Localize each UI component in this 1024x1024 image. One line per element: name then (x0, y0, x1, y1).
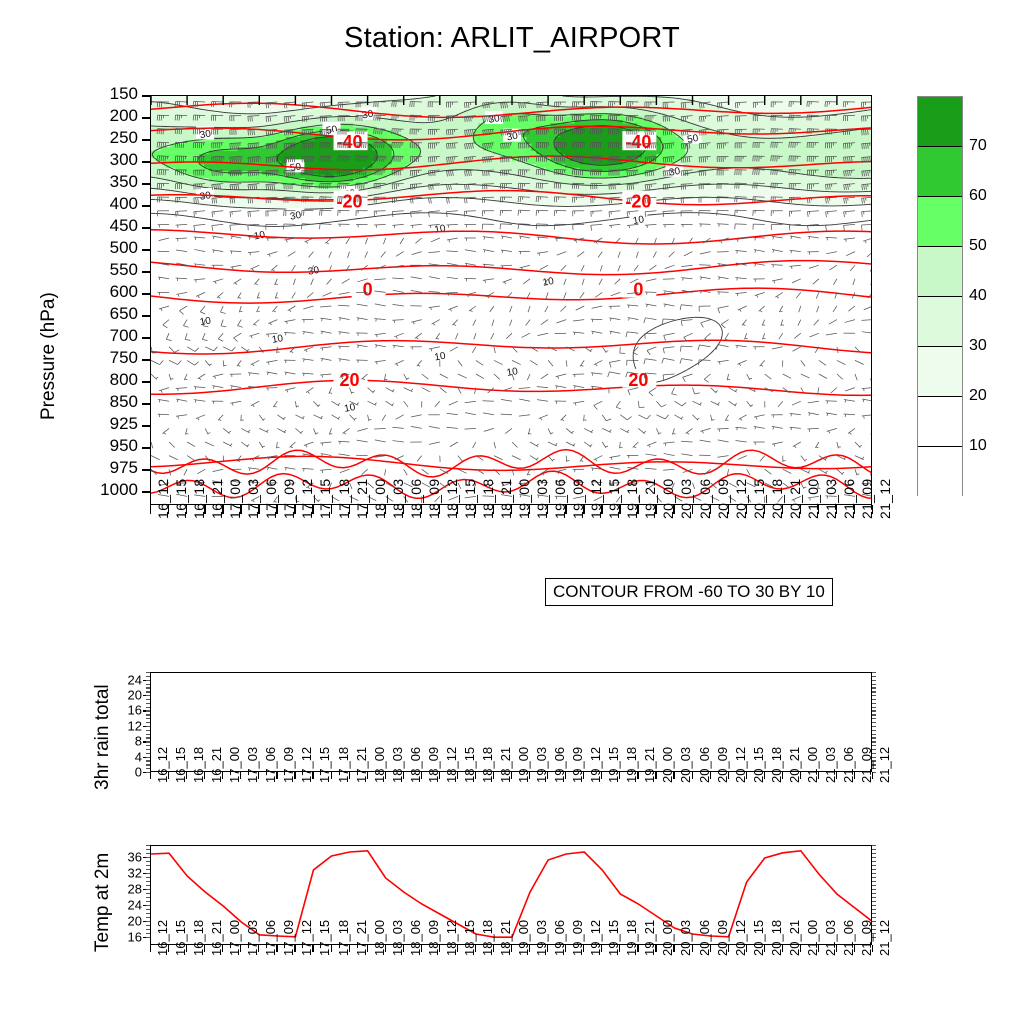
rain-time-tick (367, 772, 368, 779)
temp-minor-tick (872, 869, 876, 870)
pressure-tick-label: 400 (78, 195, 138, 212)
rain-time-tick (276, 772, 277, 779)
rain-minor-tick (872, 687, 876, 688)
xsec-plot-svg: 3030505050303030503030101010301010101010… (151, 96, 872, 505)
time-tick-mark (421, 505, 422, 514)
pressure-tick-label: 800 (78, 371, 138, 388)
temp-time-tick (854, 945, 855, 952)
time-tick-mark (240, 505, 241, 514)
rain-tick-label: 12 (96, 718, 142, 733)
rain-minor-tick (872, 730, 876, 731)
rain-minor-tick (146, 737, 150, 738)
temp-tick-label: 28 (96, 882, 142, 897)
rain-time-tick (331, 772, 332, 779)
rain-minor-tick (146, 722, 150, 723)
temp-time-tick (764, 945, 765, 952)
temp-time-tick (782, 945, 783, 952)
time-tick-mark (475, 505, 476, 514)
temp-minor-tick (872, 861, 876, 862)
colorbar-tick-label: 50 (969, 237, 987, 255)
temp-minor-tick (146, 881, 150, 882)
time-tick-mark (529, 505, 530, 514)
temp-minor-tick (146, 909, 150, 910)
rain-minor-tick (872, 714, 876, 715)
colorbar-tick-label: 10 (969, 437, 987, 455)
temp-time-tick (421, 945, 422, 952)
pressure-tick-mark (142, 293, 150, 295)
rain-minor-tick (146, 718, 150, 719)
temp-time-tick (583, 945, 584, 952)
temp-minor-tick (872, 873, 876, 874)
pressure-tick-mark (142, 359, 150, 361)
temp-tick-label: 20 (96, 914, 142, 929)
time-tick-mark (168, 505, 169, 514)
rain-time-tick (204, 772, 205, 779)
temp-tick-label: 36 (96, 850, 142, 865)
rain-tick-label: 4 (96, 749, 142, 764)
temp-minor-tick (146, 933, 150, 934)
rain-time-tick (457, 772, 458, 779)
rain-minor-tick (146, 710, 150, 711)
temp-time-tick (692, 945, 693, 952)
rain-time-tick (421, 772, 422, 779)
colorbar-tick-label: 70 (969, 137, 987, 155)
rain-tick-label: 16 (96, 703, 142, 718)
temp-minor-tick (872, 905, 876, 906)
pressure-tick-mark (142, 425, 150, 427)
temp-time-tick (204, 945, 205, 952)
temp-time-tick (385, 945, 386, 952)
rain-time-label: 21_12 (877, 747, 892, 783)
temp-minor-tick (146, 845, 150, 846)
temp-minor-tick (146, 873, 150, 874)
temp-time-tick (150, 945, 151, 952)
temp-minor-tick (146, 857, 150, 858)
rain-time-tick (619, 772, 620, 779)
colorbar-band (918, 147, 962, 197)
pressure-tick-mark (142, 117, 150, 119)
time-height-cross-section[interactable]: 3030505050303030503030101010301010101010… (150, 95, 872, 505)
pressure-tick-label: 550 (78, 261, 138, 278)
temp-minor-tick (872, 913, 876, 914)
time-tick-mark (710, 505, 711, 514)
rain-minor-tick (146, 691, 150, 692)
rain-time-tick (728, 772, 729, 779)
temp-time-tick (258, 945, 259, 952)
temp-minor-tick (146, 853, 150, 854)
time-tick-mark (222, 505, 223, 514)
pressure-tick-mark (142, 95, 150, 97)
temp-minor-tick (146, 885, 150, 886)
temp-time-tick (710, 945, 711, 952)
rain-minor-tick (872, 695, 876, 696)
time-tick-mark (385, 505, 386, 514)
temp-minor-tick (146, 897, 150, 898)
rain-minor-tick (146, 734, 150, 735)
pressure-tick-mark (142, 161, 150, 163)
temp-time-tick (367, 945, 368, 952)
temp-tick-label: 24 (96, 898, 142, 913)
time-tick-mark (565, 505, 566, 514)
time-tick-mark (493, 505, 494, 514)
time-tick-mark (276, 505, 277, 514)
pressure-tick-label: 975 (78, 459, 138, 476)
temp-time-tick (240, 945, 241, 952)
temp-minor-tick (146, 917, 150, 918)
time-tick-mark (204, 505, 205, 514)
rain-minor-tick (872, 672, 876, 673)
temp-time-tick (673, 945, 674, 952)
time-tick-mark (692, 505, 693, 514)
rain-tick-label: 20 (96, 688, 142, 703)
rain-minor-tick (146, 726, 150, 727)
temp-time-tick (800, 945, 801, 952)
time-tick-mark (673, 505, 674, 514)
time-tick-mark (818, 505, 819, 514)
colorbar-tick-label: 40 (969, 287, 987, 305)
pressure-tick-label: 600 (78, 283, 138, 300)
temp-time-tick (331, 945, 332, 952)
pressure-tick-label: 925 (78, 415, 138, 432)
temp-time-tick (565, 945, 566, 952)
pressure-axis-label: Pressure (hPa) (38, 292, 60, 420)
pressure-tick-mark (142, 271, 150, 273)
rain-time-tick (186, 772, 187, 779)
pressure-tick-label: 200 (78, 107, 138, 124)
temp-minor-tick (872, 857, 876, 858)
temp-minor-tick (146, 889, 150, 890)
rain-tick-label: 0 (96, 765, 142, 780)
rain-time-tick (385, 772, 386, 779)
rain-time-tick (872, 772, 873, 779)
time-tick-mark (746, 505, 747, 514)
rain-time-tick (150, 772, 151, 779)
temp-time-tick (457, 945, 458, 952)
rain-time-tick (222, 772, 223, 779)
colorbar-band (918, 347, 962, 397)
temp-minor-tick (872, 881, 876, 882)
temp-time-tick (493, 945, 494, 952)
rain-time-tick (764, 772, 765, 779)
time-tick-mark (619, 505, 620, 514)
colorbar-band (918, 297, 962, 347)
time-tick-mark (403, 505, 404, 514)
time-tick-mark (836, 505, 837, 514)
rain-time-tick (547, 772, 548, 779)
pressure-tick-mark (142, 469, 150, 471)
temp-time-tick (746, 945, 747, 952)
temp-minor-tick (872, 889, 876, 890)
temp-tick-label: 32 (96, 866, 142, 881)
pressure-tick-label: 750 (78, 349, 138, 366)
temp-time-tick (222, 945, 223, 952)
time-tick-mark (800, 505, 801, 514)
temp-time-tick (547, 945, 548, 952)
temp-time-tick (276, 945, 277, 952)
rain-minor-tick (146, 695, 150, 696)
pressure-tick-label: 650 (78, 305, 138, 322)
time-tick-mark (349, 505, 350, 514)
pressure-tick-label: 250 (78, 129, 138, 146)
temp-minor-tick (872, 853, 876, 854)
colorbar-band (918, 197, 962, 247)
rain-time-tick (637, 772, 638, 779)
rain-tick-label: 24 (96, 672, 142, 687)
temp-time-tick (439, 945, 440, 952)
temp-minor-tick (872, 897, 876, 898)
time-tick-mark (331, 505, 332, 514)
colorbar-tick-label: 30 (969, 337, 987, 355)
time-tick-label: 21_12 (877, 479, 893, 519)
pressure-tick-label: 300 (78, 151, 138, 168)
rain-time-tick (439, 772, 440, 779)
pressure-tick-mark (142, 403, 150, 405)
rain-time-tick (746, 772, 747, 779)
temp-minor-tick (146, 937, 150, 938)
time-tick-mark (511, 505, 512, 514)
rain-time-tick (475, 772, 476, 779)
rain-time-tick (782, 772, 783, 779)
rain-minor-tick (146, 672, 150, 673)
rain-minor-tick (146, 757, 150, 758)
temp-minor-tick (146, 869, 150, 870)
temp-minor-tick (872, 877, 876, 878)
contour-note: CONTOUR FROM -60 TO 30 BY 10 (545, 578, 833, 606)
pressure-tick-label: 500 (78, 239, 138, 256)
temp-minor-tick (146, 929, 150, 930)
pressure-tick-label: 450 (78, 217, 138, 234)
rain-time-tick (818, 772, 819, 779)
time-tick-mark (782, 505, 783, 514)
rain-minor-tick (146, 714, 150, 715)
rain-time-tick (673, 772, 674, 779)
time-tick-mark (764, 505, 765, 514)
temp-minor-tick (146, 925, 150, 926)
rain-minor-tick (872, 710, 876, 711)
pressure-tick-label: 850 (78, 393, 138, 410)
rain-time-tick (349, 772, 350, 779)
time-tick-mark (872, 505, 873, 514)
rain-time-tick (565, 772, 566, 779)
rain-time-tick (583, 772, 584, 779)
rain-minor-tick (146, 753, 150, 754)
temp-minor-tick (872, 909, 876, 910)
colorbar-band (918, 247, 962, 297)
time-tick-mark (312, 505, 313, 514)
rain-minor-tick (872, 707, 876, 708)
rain-time-tick (493, 772, 494, 779)
temp-time-tick (619, 945, 620, 952)
rain-minor-tick (146, 680, 150, 681)
time-tick-mark (258, 505, 259, 514)
temp-minor-tick (872, 917, 876, 918)
temp-minor-tick (872, 845, 876, 846)
rain-time-tick (240, 772, 241, 779)
rain-minor-tick (872, 734, 876, 735)
temp-time-tick (294, 945, 295, 952)
pressure-tick-mark (142, 249, 150, 251)
temp-minor-tick (872, 865, 876, 866)
time-tick-mark (367, 505, 368, 514)
temp-time-tick (872, 945, 873, 952)
pressure-tick-mark (142, 227, 150, 229)
rain-time-tick (854, 772, 855, 779)
temp-time-tick (836, 945, 837, 952)
rain-time-tick (836, 772, 837, 779)
pressure-tick-label: 700 (78, 327, 138, 344)
rain-time-tick (168, 772, 169, 779)
rain-time-tick (692, 772, 693, 779)
pressure-tick-label: 1000 (78, 481, 138, 498)
rain-time-tick (800, 772, 801, 779)
pressure-tick-mark (142, 315, 150, 317)
rain-time-tick (312, 772, 313, 779)
temp-time-tick (637, 945, 638, 952)
temp-minor-tick (872, 901, 876, 902)
time-tick-mark (457, 505, 458, 514)
temp-minor-tick (146, 901, 150, 902)
temp-time-tick (168, 945, 169, 952)
time-tick-mark (583, 505, 584, 514)
rain-minor-tick (872, 691, 876, 692)
temp-minor-tick (146, 921, 150, 922)
temp-minor-tick (146, 913, 150, 914)
rain-minor-tick (146, 676, 150, 677)
time-tick-mark (294, 505, 295, 514)
pressure-tick-label: 350 (78, 173, 138, 190)
rain-minor-tick (872, 737, 876, 738)
rain-time-tick (601, 772, 602, 779)
rain-minor-tick (872, 722, 876, 723)
time-tick-mark (854, 505, 855, 514)
rain-minor-tick (872, 726, 876, 727)
temp-time-tick (655, 945, 656, 952)
rain-minor-tick (146, 745, 150, 746)
temp-time-tick (312, 945, 313, 952)
temp-time-tick (529, 945, 530, 952)
rain-time-tick (511, 772, 512, 779)
temp-time-tick (186, 945, 187, 952)
rain-time-tick (258, 772, 259, 779)
time-tick-mark (439, 505, 440, 514)
temp-minor-tick (146, 861, 150, 862)
rain-minor-tick (872, 718, 876, 719)
temp-minor-tick (872, 893, 876, 894)
time-tick-mark (728, 505, 729, 514)
time-tick-mark (186, 505, 187, 514)
rain-minor-tick (146, 760, 150, 761)
temp-time-label: 21_12 (877, 920, 892, 956)
colorbar-band (918, 97, 962, 147)
rain-minor-tick (872, 703, 876, 704)
rain-minor-tick (872, 684, 876, 685)
temp-time-tick (511, 945, 512, 952)
temp-minor-tick (146, 877, 150, 878)
temp-minor-tick (146, 905, 150, 906)
temp-time-tick (403, 945, 404, 952)
pressure-tick-mark (142, 447, 150, 449)
rain-minor-tick (146, 764, 150, 765)
temp-time-tick (818, 945, 819, 952)
temp-minor-tick (872, 885, 876, 886)
page-title: Station: ARLIT_AIRPORT (0, 22, 1024, 55)
colorbar[interactable] (917, 96, 963, 496)
temp-minor-tick (872, 849, 876, 850)
temp-time-tick (601, 945, 602, 952)
rain-tick-label: 8 (96, 734, 142, 749)
temp-minor-tick (146, 849, 150, 850)
rain-minor-tick (146, 730, 150, 731)
rain-minor-tick (146, 703, 150, 704)
pressure-tick-mark (142, 491, 150, 493)
rain-minor-tick (146, 768, 150, 769)
rain-minor-tick (146, 707, 150, 708)
rain-minor-tick (872, 699, 876, 700)
time-tick-mark (150, 505, 151, 514)
temp-tick-label: 16 (96, 930, 142, 945)
colorbar-tick-label: 20 (969, 387, 987, 405)
screenshot-root: Station: ARLIT_AIRPORT 15020025030035040… (0, 0, 1024, 1024)
time-tick-mark (547, 505, 548, 514)
time-tick-mark (655, 505, 656, 514)
pressure-tick-label: 950 (78, 437, 138, 454)
temp-minor-tick (146, 893, 150, 894)
rain-minor-tick (872, 741, 876, 742)
colorbar-band (918, 397, 962, 447)
pressure-tick-mark (142, 337, 150, 339)
rain-time-tick (710, 772, 711, 779)
rain-time-tick (529, 772, 530, 779)
rain-minor-tick (872, 680, 876, 681)
rain-minor-tick (872, 676, 876, 677)
colorbar-tick-label: 60 (969, 187, 987, 205)
time-tick-mark (637, 505, 638, 514)
rain-minor-tick (146, 699, 150, 700)
rain-minor-tick (146, 741, 150, 742)
rain-minor-tick (146, 684, 150, 685)
temp-time-tick (728, 945, 729, 952)
rain-minor-tick (146, 749, 150, 750)
rain-minor-tick (146, 687, 150, 688)
time-tick-mark (601, 505, 602, 514)
colorbar-band (918, 447, 962, 497)
rain-time-tick (294, 772, 295, 779)
pressure-tick-mark (142, 139, 150, 141)
temp-time-tick (475, 945, 476, 952)
rain-time-tick (655, 772, 656, 779)
pressure-tick-mark (142, 183, 150, 185)
rain-time-tick (403, 772, 404, 779)
pressure-tick-label: 150 (78, 85, 138, 102)
temp-minor-tick (146, 865, 150, 866)
temp-time-tick (349, 945, 350, 952)
pressure-tick-mark (142, 381, 150, 383)
pressure-tick-mark (142, 205, 150, 207)
